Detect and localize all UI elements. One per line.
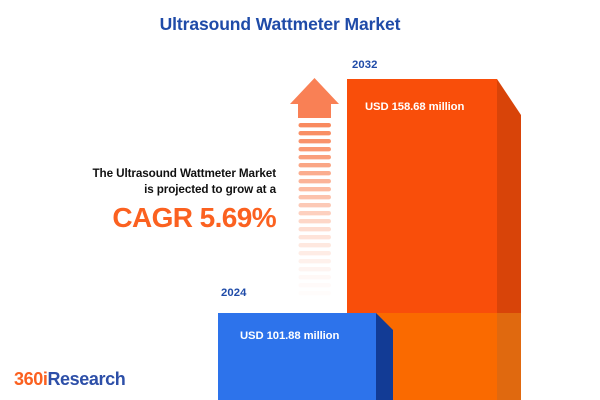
brand-logo: 360iResearch <box>14 369 125 390</box>
bar-2024-value-label: USD 101.88 million <box>240 330 339 342</box>
cagr-value: CAGR 5.69% <box>8 201 276 234</box>
cagr-annotation: The Ultrasound Wattmeter Market is proje… <box>8 166 276 234</box>
annotation-line-1: The Ultrasound Wattmeter Market <box>8 166 276 182</box>
bar-2032-value-label: USD 158.68 million <box>365 101 464 113</box>
annotation-line-2: is projected to grow at a <box>8 182 276 198</box>
bar-2024-side-face <box>376 313 393 400</box>
bar-year-label-2032: 2032 <box>352 59 378 71</box>
brand-logo-part-2: Research <box>47 369 125 389</box>
growth-up-arrow-icon <box>288 76 342 298</box>
bar-2032-front-upper <box>347 79 497 313</box>
bar-2032-side-face <box>497 79 521 400</box>
bar-year-label-2024: 2024 <box>221 287 247 299</box>
brand-logo-part-1: 360i <box>14 369 47 389</box>
bar-2024-front <box>218 313 376 400</box>
infographic-canvas: Ultrasound Wattmeter Market The Ultrasou… <box>0 0 600 400</box>
page-title: Ultrasound Wattmeter Market <box>0 14 560 35</box>
bar-2024: USD 101.88 million <box>218 313 392 400</box>
